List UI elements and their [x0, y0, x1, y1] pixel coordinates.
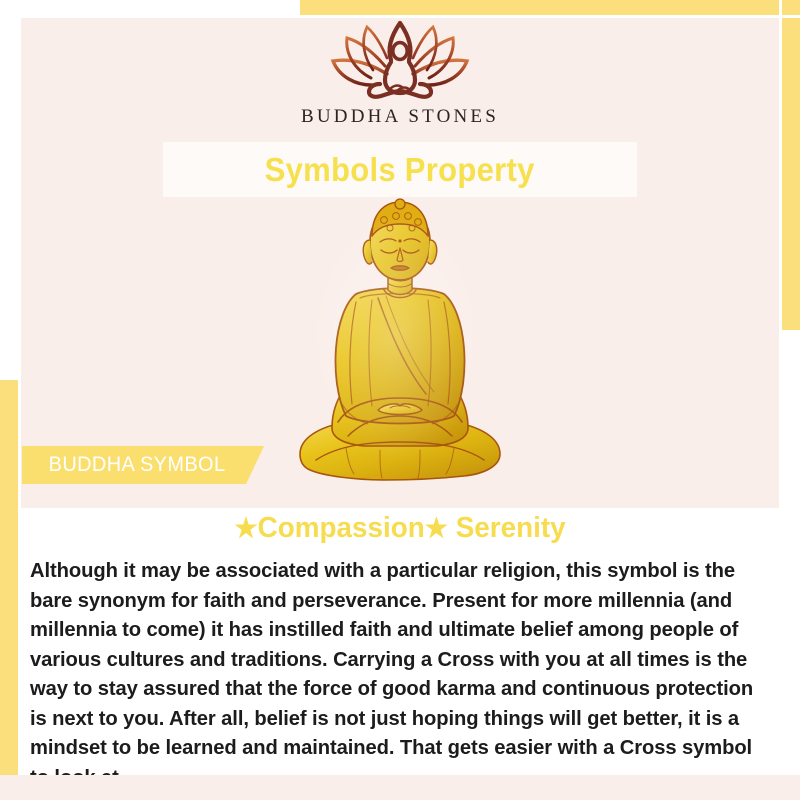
top-right-frame-horizontal — [300, 0, 800, 15]
bottom-accent-strip — [0, 775, 800, 800]
seated-golden-buddha-illustration — [286, 198, 514, 488]
lotus-meditation-icon — [325, 14, 475, 100]
brand-name: BUDDHA STONES — [301, 106, 499, 128]
headline-term-compassion: Compassion — [258, 512, 425, 544]
brand-logo: BUDDHA STONES — [0, 14, 800, 128]
page-title: Symbols Property — [265, 151, 535, 189]
buddha-symbol-tag: BUDDHA SYMBOL — [22, 446, 264, 484]
bottom-left-frame-vertical — [0, 380, 18, 800]
symbols-property-poster: BUDDHA STONES Symbols Property — [0, 0, 800, 800]
section-headline: ★Compassion★ Serenity — [16, 512, 784, 545]
star-icon-left: ★ — [234, 513, 257, 543]
headline-term-serenity: Serenity — [456, 512, 566, 544]
body-paragraph: Although it may be associated with a par… — [30, 556, 759, 792]
buddha-symbol-tag-label: BUDDHA SYMBOL — [49, 453, 226, 477]
star-icon-middle: ★ — [425, 513, 448, 543]
title-banner: Symbols Property — [163, 142, 637, 197]
